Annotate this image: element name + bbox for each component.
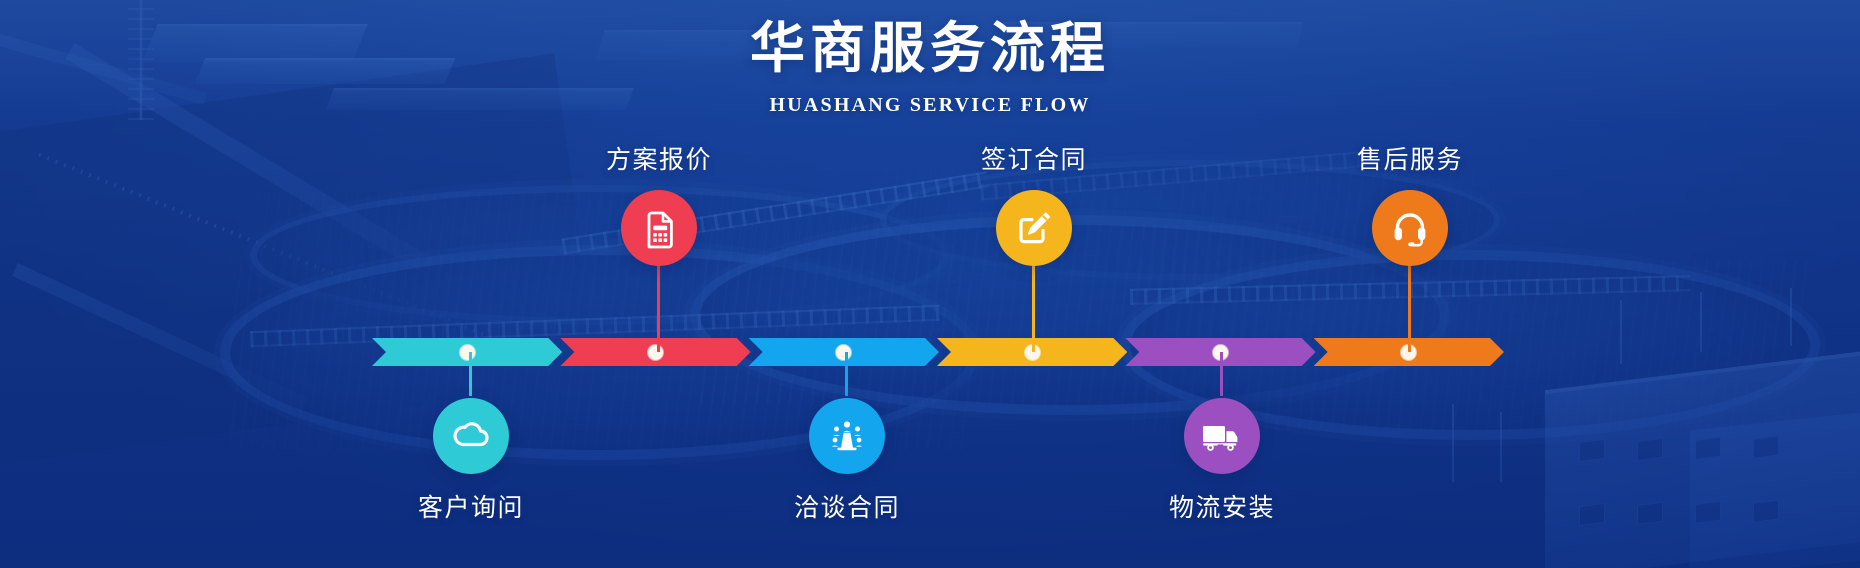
page-subtitle: HUASHANG SERVICE FLOW	[0, 94, 1860, 117]
flow-arrow-segment-1[interactable]	[372, 338, 562, 366]
flow-marker-dot	[836, 345, 851, 360]
banner-header: 华商服务流程 HUASHANG SERVICE FLOW	[0, 18, 1860, 117]
flow-step-6-bubble[interactable]	[1372, 190, 1448, 266]
service-flow-banner: 华商服务流程 HUASHANG SERVICE FLOW	[0, 0, 1860, 568]
calculator-icon	[639, 207, 679, 249]
flow-step-3-label: 洽谈合同	[767, 488, 927, 524]
flow-arrow-strip	[372, 338, 1504, 366]
flow-step-4[interactable]: 签订合同	[954, 140, 1114, 266]
cloud-icon	[450, 415, 492, 457]
meeting-icon	[825, 415, 869, 457]
flow-step-3-bubble[interactable]	[809, 398, 885, 474]
flow-step-1-label: 客户询问	[391, 488, 551, 524]
flow-marker-dot	[648, 345, 663, 360]
pen-edit-icon	[1012, 206, 1056, 250]
connector-line-step-1	[469, 352, 472, 396]
flow-step-6[interactable]: 售后服务	[1330, 140, 1490, 266]
headset-icon	[1388, 206, 1432, 250]
flow-step-6-label: 售后服务	[1330, 140, 1490, 176]
flow-step-5[interactable]: 物流安装	[1142, 398, 1302, 524]
flow-step-4-label: 签订合同	[954, 140, 1114, 176]
truck-icon	[1199, 416, 1245, 456]
flow-step-2-label: 方案报价	[579, 140, 739, 176]
flow-step-3[interactable]: 洽谈合同	[767, 398, 927, 524]
flow-step-1[interactable]: 客户询问	[391, 398, 551, 524]
connector-line-step-3	[845, 352, 848, 396]
page-title: 华商服务流程	[0, 18, 1860, 80]
flow-arrow-segment-3[interactable]	[749, 338, 939, 366]
flow-marker-dot	[460, 345, 475, 360]
flow-step-4-bubble[interactable]	[996, 190, 1072, 266]
flow-step-1-bubble[interactable]	[433, 398, 509, 474]
flow-step-5-bubble[interactable]	[1184, 398, 1260, 474]
connector-line-step-5	[1220, 352, 1223, 396]
flow-step-5-label: 物流安装	[1142, 488, 1302, 524]
flow-step-2[interactable]: 方案报价	[579, 140, 739, 266]
flow-step-2-bubble[interactable]	[621, 190, 697, 266]
flow-arrow-segment-2[interactable]	[560, 338, 750, 366]
